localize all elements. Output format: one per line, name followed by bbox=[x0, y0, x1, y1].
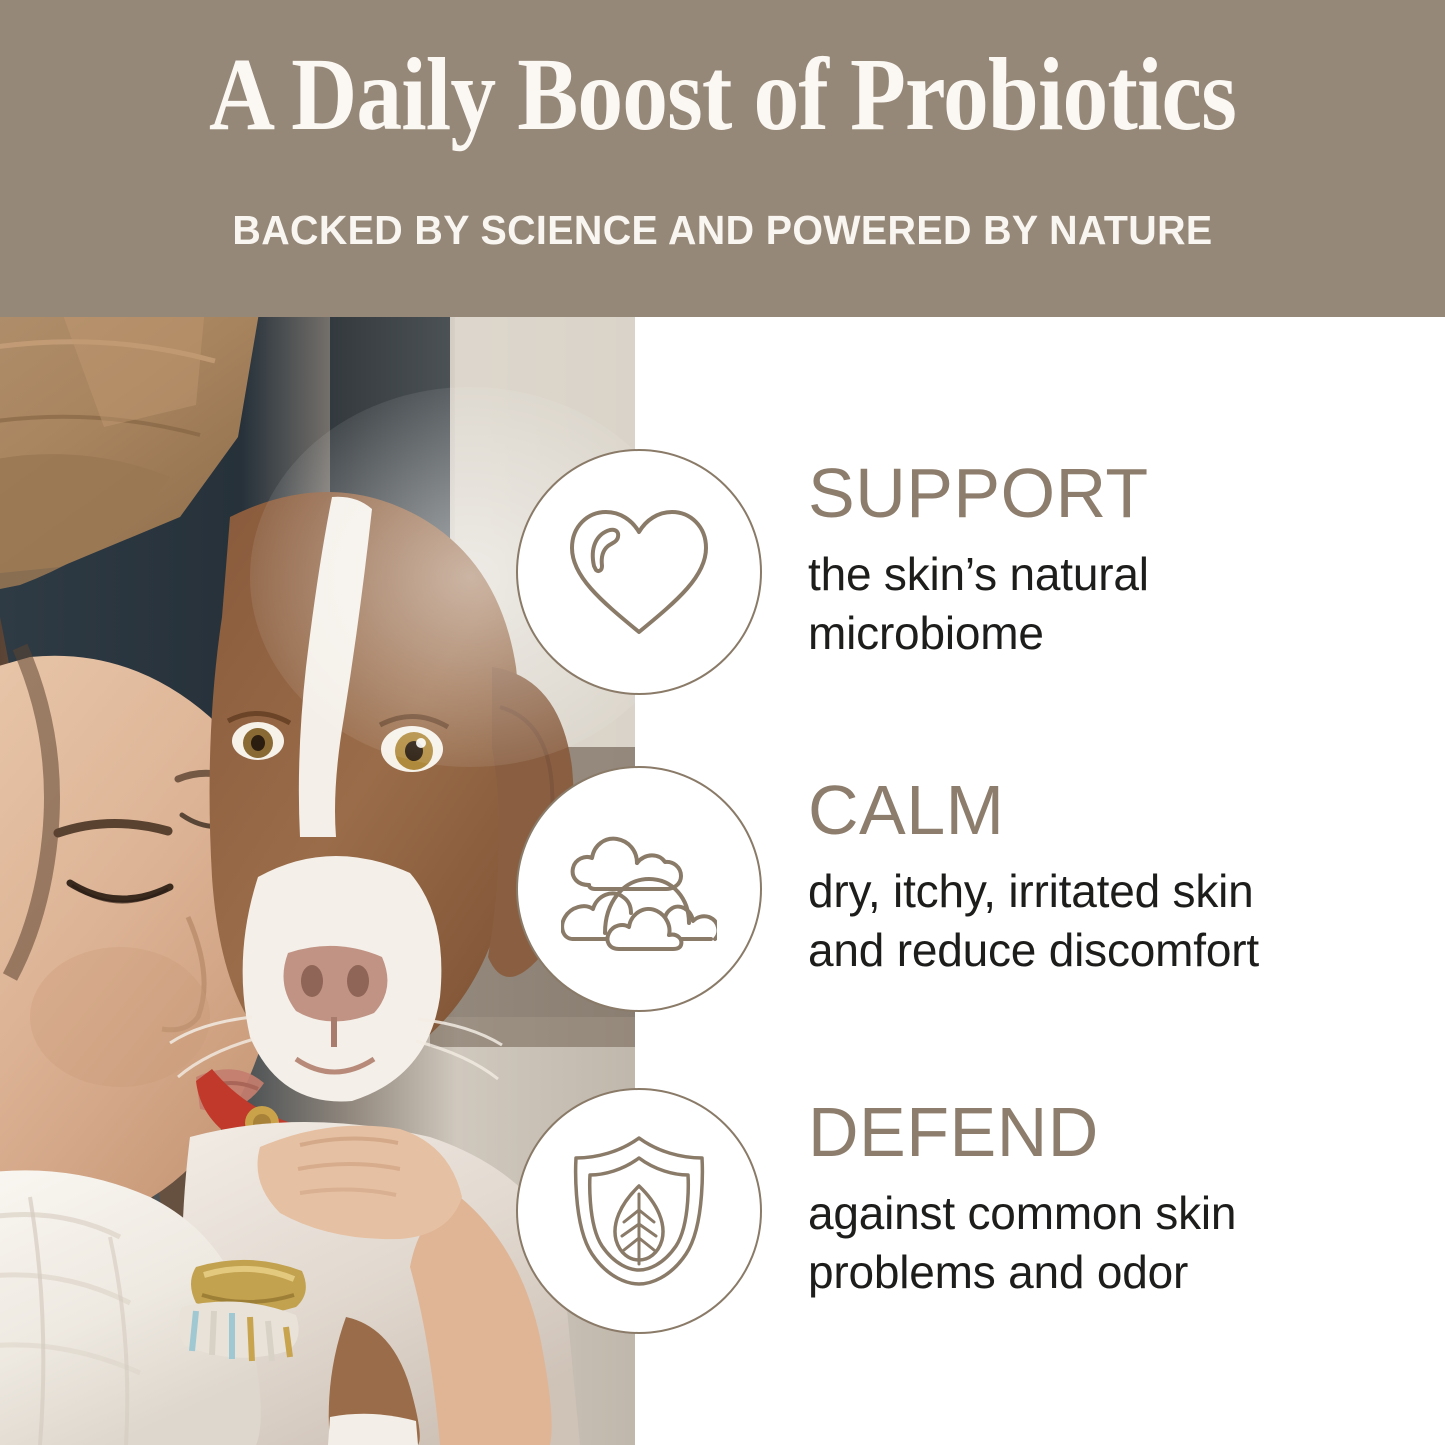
page-subtitle: BACKED BY SCIENCE AND POWERED BY NATURE bbox=[29, 205, 1416, 255]
benefit-icon-circle bbox=[516, 449, 762, 695]
benefit-row: CALM dry, itchy, irritated skin and redu… bbox=[0, 766, 1445, 1016]
benefit-body-line: the skin’s natural bbox=[808, 548, 1149, 600]
clouds-icon bbox=[561, 823, 717, 955]
benefit-body: dry, itchy, irritated skin and reduce di… bbox=[808, 862, 1418, 980]
benefit-heading: DEFEND bbox=[808, 1094, 1418, 1170]
benefit-text-block: DEFEND against common skin problems and … bbox=[808, 1094, 1418, 1302]
benefit-body: against common skin problems and odor bbox=[808, 1184, 1418, 1302]
benefit-text-block: SUPPORT the skin’s natural microbiome bbox=[808, 455, 1418, 663]
benefit-body-line: against common skin bbox=[808, 1187, 1236, 1239]
page-title: A Daily Boost of Probiotics bbox=[87, 36, 1359, 154]
benefit-body-line: and reduce discomfort bbox=[808, 924, 1259, 976]
heart-icon bbox=[564, 504, 714, 640]
benefit-icon-circle bbox=[516, 766, 762, 1012]
benefit-body: the skin’s natural microbiome bbox=[808, 545, 1418, 663]
benefit-body-line: dry, itchy, irritated skin bbox=[808, 865, 1254, 917]
benefit-row: DEFEND against common skin problems and … bbox=[0, 1088, 1445, 1338]
benefit-row: SUPPORT the skin’s natural microbiome bbox=[0, 449, 1445, 699]
benefit-heading: SUPPORT bbox=[808, 455, 1418, 531]
shield-leaf-icon bbox=[568, 1132, 710, 1290]
benefit-heading: CALM bbox=[808, 772, 1418, 848]
benefit-body-line: microbiome bbox=[808, 607, 1044, 659]
benefit-body-line: problems and odor bbox=[808, 1246, 1188, 1298]
benefit-text-block: CALM dry, itchy, irritated skin and redu… bbox=[808, 772, 1418, 980]
header-band: A Daily Boost of Probiotics BACKED BY SC… bbox=[0, 0, 1445, 317]
infographic-page: A Daily Boost of Probiotics BACKED BY SC… bbox=[0, 0, 1445, 1445]
benefit-icon-circle bbox=[516, 1088, 762, 1334]
